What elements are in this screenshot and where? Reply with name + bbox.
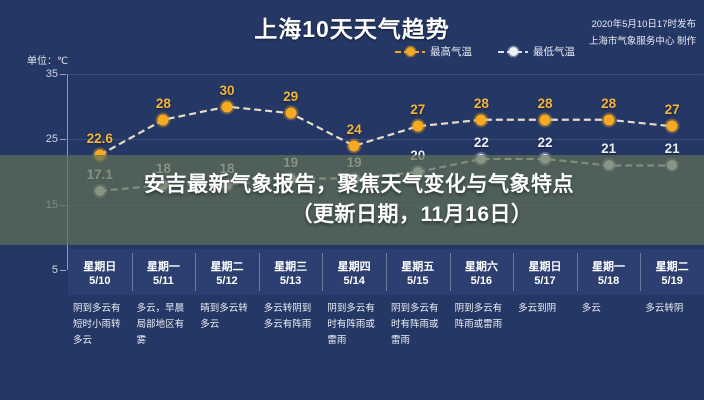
forecast-weekday: 星期日	[528, 258, 561, 274]
forecast-header-cell[interactable]: 星期二5/12	[195, 249, 259, 295]
data-point-high	[412, 121, 423, 132]
overlay-headline-line1: 安吉最新气象报告，聚焦天气变化与气象特点	[0, 170, 704, 200]
forecast-body-cell: 阴到多云有阵雨或雷雨	[450, 295, 514, 400]
forecast-weekday: 星期五	[401, 258, 434, 274]
chart-gridline	[67, 139, 703, 140]
data-label-high: 28	[474, 96, 489, 111]
y-axis-tick-label: 25	[18, 133, 58, 145]
forecast-date: 5/10	[89, 275, 110, 287]
forecast-header-cell[interactable]: 星期四5/14	[322, 249, 386, 295]
forecast-table-body: 阴到多云有短时小雨转多云多云，早晨局部地区有雾晴到多云转多云多云转阴到多云有阵雨…	[68, 295, 704, 400]
data-label-high: 28	[156, 96, 171, 111]
forecast-weekday: 星期一	[147, 258, 180, 274]
data-point-high	[603, 114, 614, 125]
data-point-high	[222, 101, 233, 112]
forecast-body-cell: 多云到阴	[513, 295, 577, 400]
data-label-high: 29	[283, 89, 298, 104]
forecast-body-cell: 多云	[577, 295, 641, 400]
data-label-high: 30	[219, 83, 234, 98]
legend-label-high: 最高气温	[430, 44, 472, 59]
forecast-header-cell[interactable]: 星期日5/10	[68, 249, 132, 295]
data-label-high: 24	[347, 122, 362, 137]
forecast-weather-text: 阴到多云有时有阵雨或雷雨	[327, 301, 382, 349]
publish-info: 2020年5月10日17时发布 上海市气象服务中心 制作	[589, 16, 696, 50]
legend-dot-high-icon	[406, 47, 415, 56]
legend-item-low: 最低气温	[498, 44, 575, 59]
y-axis-tick-mark	[60, 74, 66, 75]
forecast-header-cell[interactable]: 星期二5/19	[640, 249, 704, 295]
legend-line-low-icon	[498, 51, 528, 53]
data-point-high	[285, 108, 296, 119]
legend-dot-low-icon	[509, 47, 518, 56]
forecast-weather-text: 多云	[582, 301, 637, 317]
data-label-high: 27	[665, 102, 680, 117]
data-point-high	[158, 114, 169, 125]
forecast-table: 星期日5/10星期一5/11星期二5/12星期三5/13星期四5/14星期五5/…	[68, 249, 704, 400]
forecast-weekday: 星期一	[592, 258, 625, 274]
forecast-date: 5/17	[534, 275, 555, 287]
data-label-high: 28	[537, 96, 552, 111]
chart-gridline	[67, 74, 703, 75]
data-point-high	[540, 114, 551, 125]
forecast-weekday: 星期四	[338, 258, 371, 274]
forecast-body-cell: 多云转阴	[640, 295, 704, 400]
forecast-body-cell: 阴到多云有短时小雨转多云	[68, 295, 132, 400]
forecast-header-cell[interactable]: 星期六5/16	[450, 249, 514, 295]
forecast-weather-text: 多云转阴	[645, 301, 700, 317]
y-axis-tick-label: 35	[18, 68, 58, 80]
forecast-weekday: 星期日	[83, 258, 116, 274]
forecast-body-cell: 晴到多云转多云	[195, 295, 259, 400]
forecast-date: 5/15	[407, 275, 428, 287]
forecast-date: 5/12	[216, 275, 237, 287]
forecast-date: 5/16	[471, 275, 492, 287]
axis-unit-label: 单位：℃	[27, 52, 68, 67]
forecast-weekday: 星期二	[210, 258, 243, 274]
forecast-header-cell[interactable]: 星期一5/18	[577, 249, 641, 295]
legend-item-high: 最高气温	[395, 44, 472, 59]
data-point-high	[667, 121, 678, 132]
chart-series-line-high	[100, 107, 672, 155]
forecast-table-header: 星期日5/10星期一5/11星期二5/12星期三5/13星期四5/14星期五5/…	[68, 249, 704, 295]
forecast-body-cell: 多云，早晨局部地区有雾	[132, 295, 196, 400]
data-label-high: 28	[601, 96, 616, 111]
overlay-headline-line2: （更新日期，11月16日）	[0, 200, 704, 230]
headline-overlay-banner: 安吉最新气象报告，聚焦天气变化与气象特点 （更新日期，11月16日）	[0, 155, 704, 245]
forecast-weekday: 星期三	[274, 258, 307, 274]
forecast-date: 5/13	[280, 275, 301, 287]
chart-legend: 最高气温 最低气温	[395, 44, 575, 59]
y-axis-tick-label: 5	[18, 264, 58, 276]
forecast-weather-text: 多云转阴到多云有阵雨	[264, 301, 319, 333]
forecast-header-cell[interactable]: 星期日5/17	[513, 249, 577, 295]
forecast-weather-text: 阴到多云有时有阵雨或雷雨	[391, 301, 446, 349]
y-axis-tick-mark	[60, 270, 66, 271]
forecast-weekday: 星期六	[465, 258, 498, 274]
forecast-date: 5/11	[153, 275, 174, 287]
legend-label-low: 最低气温	[533, 44, 575, 59]
forecast-header-cell[interactable]: 星期一5/11	[132, 249, 196, 295]
forecast-weather-text: 阴到多云有短时小雨转多云	[73, 301, 128, 349]
forecast-weather-text: 阴到多云有阵雨或雷雨	[455, 301, 510, 333]
forecast-weather-text: 多云到阴	[518, 301, 573, 317]
forecast-date: 5/18	[598, 275, 619, 287]
data-label-low: 22	[474, 135, 489, 150]
forecast-header-cell[interactable]: 星期三5/13	[259, 249, 323, 295]
forecast-body-cell: 阴到多云有时有阵雨或雷雨	[386, 295, 450, 400]
legend-line-high-icon	[395, 51, 425, 53]
forecast-weather-text: 晴到多云转多云	[200, 301, 255, 333]
forecast-weather-text: 多云，早晨局部地区有雾	[137, 301, 192, 349]
weather-infographic: 上海10天天气趋势 2020年5月10日17时发布 上海市气象服务中心 制作 最…	[0, 0, 704, 400]
publisher-name: 上海市气象服务中心 制作	[589, 33, 696, 50]
data-point-high	[476, 114, 487, 125]
forecast-weekday: 星期二	[656, 258, 689, 274]
forecast-header-cell[interactable]: 星期五5/15	[386, 249, 450, 295]
forecast-date: 5/19	[661, 275, 682, 287]
publish-time: 2020年5月10日17时发布	[589, 16, 696, 33]
data-label-high: 27	[410, 102, 425, 117]
data-label-low: 22	[537, 135, 552, 150]
y-axis-tick-mark	[60, 139, 66, 140]
forecast-date: 5/14	[343, 275, 364, 287]
forecast-body-cell: 阴到多云有时有阵雨或雷雨	[322, 295, 386, 400]
forecast-body-cell: 多云转阴到多云有阵雨	[259, 295, 323, 400]
data-point-high	[349, 140, 360, 151]
